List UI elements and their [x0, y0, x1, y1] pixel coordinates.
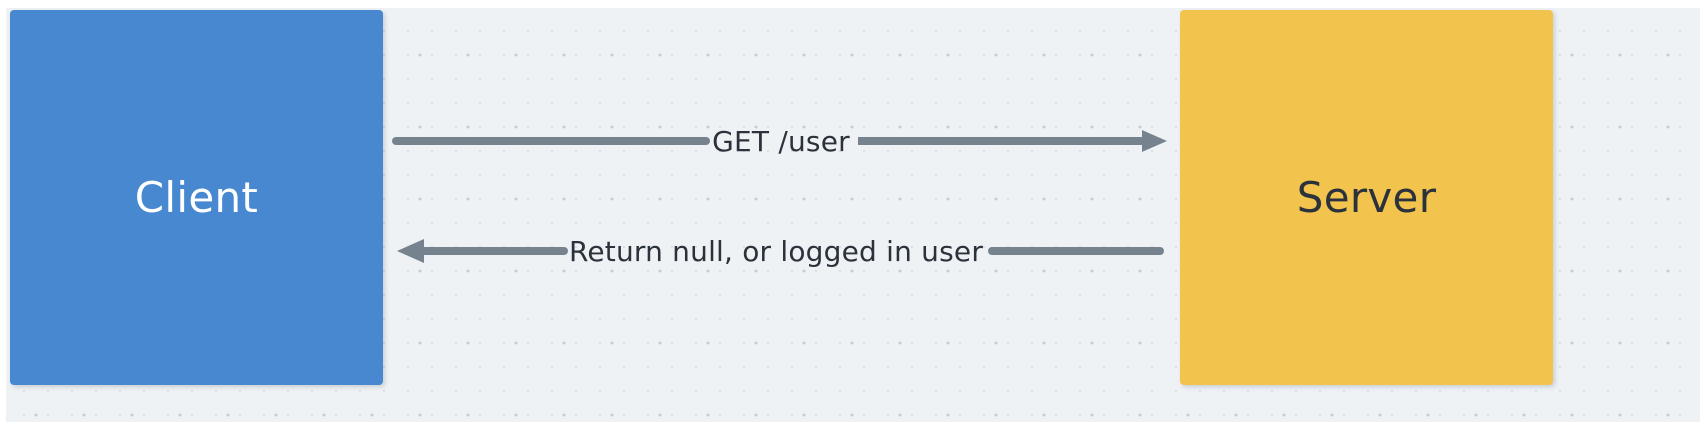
- edge-label-request: GET /user: [706, 128, 856, 156]
- node-client[interactable]: Client: [10, 10, 383, 385]
- node-server[interactable]: Server: [1180, 10, 1553, 385]
- edge-label-response: Return null, or logged in user: [563, 238, 989, 266]
- node-client-label: Client: [135, 177, 258, 219]
- diagram-canvas[interactable]: GET /user Return null, or logged in user…: [0, 0, 1706, 430]
- node-server-label: Server: [1297, 177, 1437, 219]
- edge-request-arrowhead-icon: [1142, 130, 1167, 152]
